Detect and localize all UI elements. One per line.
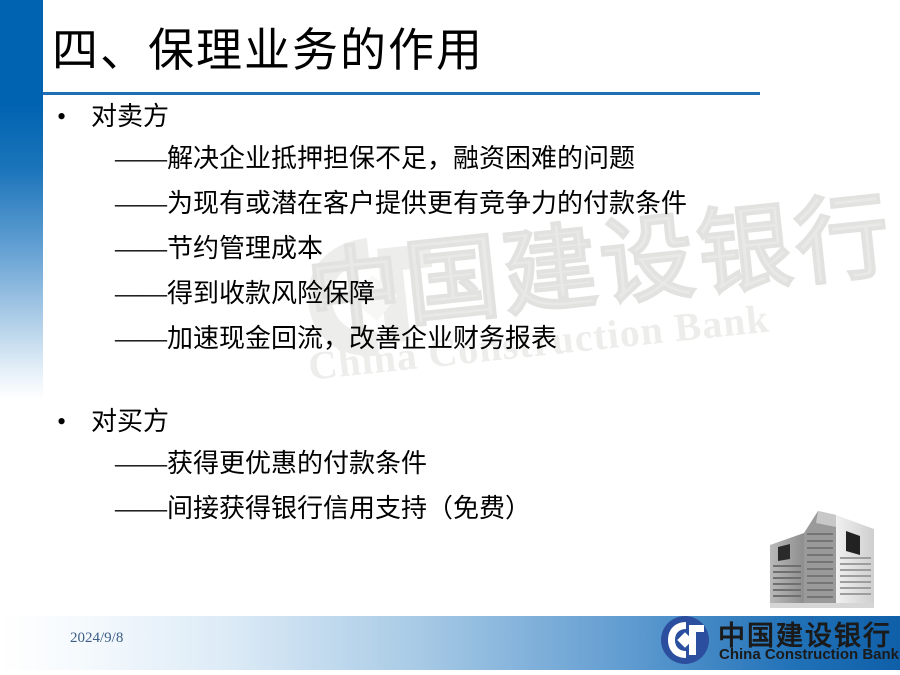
list-item: ——加速现金回流，改善企业财务报表 [43, 316, 863, 361]
ccb-name-en: China Construction Bank [719, 646, 899, 663]
bullet-icon: • [57, 403, 66, 441]
ccb-logo: 中国建设银行 China Construction Bank [660, 614, 896, 666]
section-heading-label: 对买方 [91, 407, 169, 436]
list-item: ——间接获得银行信用支持（免费） [43, 486, 863, 531]
section-heading-buyer: • 对买方 [43, 403, 863, 441]
title-underline-rule [43, 92, 760, 95]
footer-date: 2024/9/8 [70, 630, 123, 647]
ccb-mark-icon [660, 615, 710, 665]
list-item: ——为现有或潜在客户提供更有竞争力的付款条件 [43, 181, 863, 226]
section-spacer [43, 361, 863, 403]
list-item: ——获得更优惠的付款条件 [43, 441, 863, 486]
bullet-icon: • [57, 98, 66, 136]
list-item: ——得到收款风险保障 [43, 271, 863, 316]
left-accent-bar [0, 0, 43, 400]
slide: 中国建设银行 China Construction Bank 四、保理业务的作用… [0, 0, 900, 675]
list-item: ——节约管理成本 [43, 226, 863, 271]
list-item: ——解决企业抵押担保不足，融资困难的问题 [43, 136, 863, 181]
office-building-photo [756, 503, 888, 613]
slide-body: • 对卖方 ——解决企业抵押担保不足，融资困难的问题 ——为现有或潜在客户提供更… [43, 98, 863, 531]
section-heading-seller: • 对卖方 [43, 98, 863, 136]
page-title: 四、保理业务的作用 [52, 22, 484, 80]
section-heading-label: 对卖方 [91, 102, 169, 131]
